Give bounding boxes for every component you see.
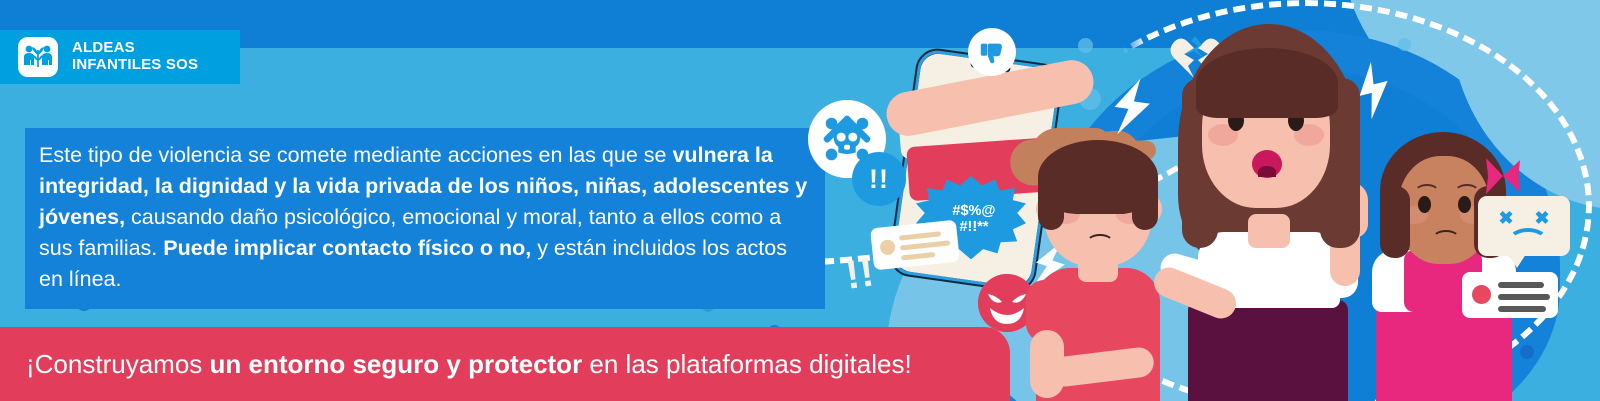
copy-bold-2: Puede implicar contacto físico o no, (163, 236, 531, 260)
curse-line-2: #!!** (959, 219, 988, 235)
message-line (900, 240, 950, 250)
description-text: Este tipo de violencia se comete mediant… (39, 140, 809, 295)
girl-center-tongue (1258, 166, 1276, 177)
message-line (901, 252, 935, 261)
decor-dot (1398, 38, 1411, 51)
exclamation-badge-icon: !! (852, 152, 906, 206)
call-to-action-bar: ¡Construyamos un entorno seguro y protec… (0, 327, 1010, 401)
call-to-action-text: ¡Construyamos un entorno seguro y protec… (26, 349, 912, 380)
boy-mouth (1086, 234, 1114, 252)
copy-lead: Este tipo de violencia se comete mediant… (39, 143, 672, 167)
girl-right-hair-left (1380, 186, 1410, 258)
message-line (899, 231, 941, 240)
thumbs-down-icon (968, 28, 1016, 76)
notification-bubble-icon (1462, 272, 1558, 318)
message-bubble-icon (870, 220, 960, 271)
sad-mouth-icon (1508, 228, 1548, 254)
description-panel: Este tipo de violencia se comete mediant… (25, 128, 825, 309)
bubble-tail (1508, 254, 1526, 268)
decor-dot (1520, 345, 1534, 359)
brand-name: ALDEAS INFANTILES SOS (72, 40, 198, 74)
notification-line (1498, 294, 1550, 300)
awareness-banner: ALDEAS INFANTILES SOS Este tipo de viole… (0, 0, 1600, 401)
sad-face-bubble-icon: ✖ ✖ (1478, 196, 1570, 256)
girl-center-bangs (1196, 48, 1338, 118)
boy-hair-side-right (1132, 176, 1158, 230)
x-eye-left-icon: ✖ (1498, 210, 1514, 226)
pointing-finger-light (1031, 77, 1086, 101)
notification-line (1498, 282, 1544, 288)
cta-bold: un entorno seguro y protector (210, 349, 583, 379)
cta-prefix: ¡Construyamos (26, 349, 210, 379)
boy-hair-side-left (1038, 176, 1064, 230)
x-eye-right-icon: ✖ (1534, 210, 1550, 226)
notification-dot (1472, 285, 1491, 304)
cta-suffix: en las plataformas digitales! (582, 349, 912, 379)
girl-right-mouth (1432, 230, 1460, 248)
exclamation-floating-icon: !! (843, 250, 878, 299)
curse-line-1: #$%@ (952, 203, 995, 219)
brand-name-line1: ALDEAS (72, 40, 198, 57)
decor-dot (1078, 38, 1093, 53)
girl-center-neck (1248, 214, 1290, 248)
brand-name-line2: INFANTILES SOS (72, 57, 198, 74)
girl-right-brow-left (1414, 184, 1440, 202)
brand-logo[interactable]: ALDEAS INFANTILES SOS (0, 30, 240, 84)
notification-line (1498, 306, 1546, 312)
message-avatar-dot (879, 239, 895, 255)
sos-children-village-icon (18, 37, 58, 77)
